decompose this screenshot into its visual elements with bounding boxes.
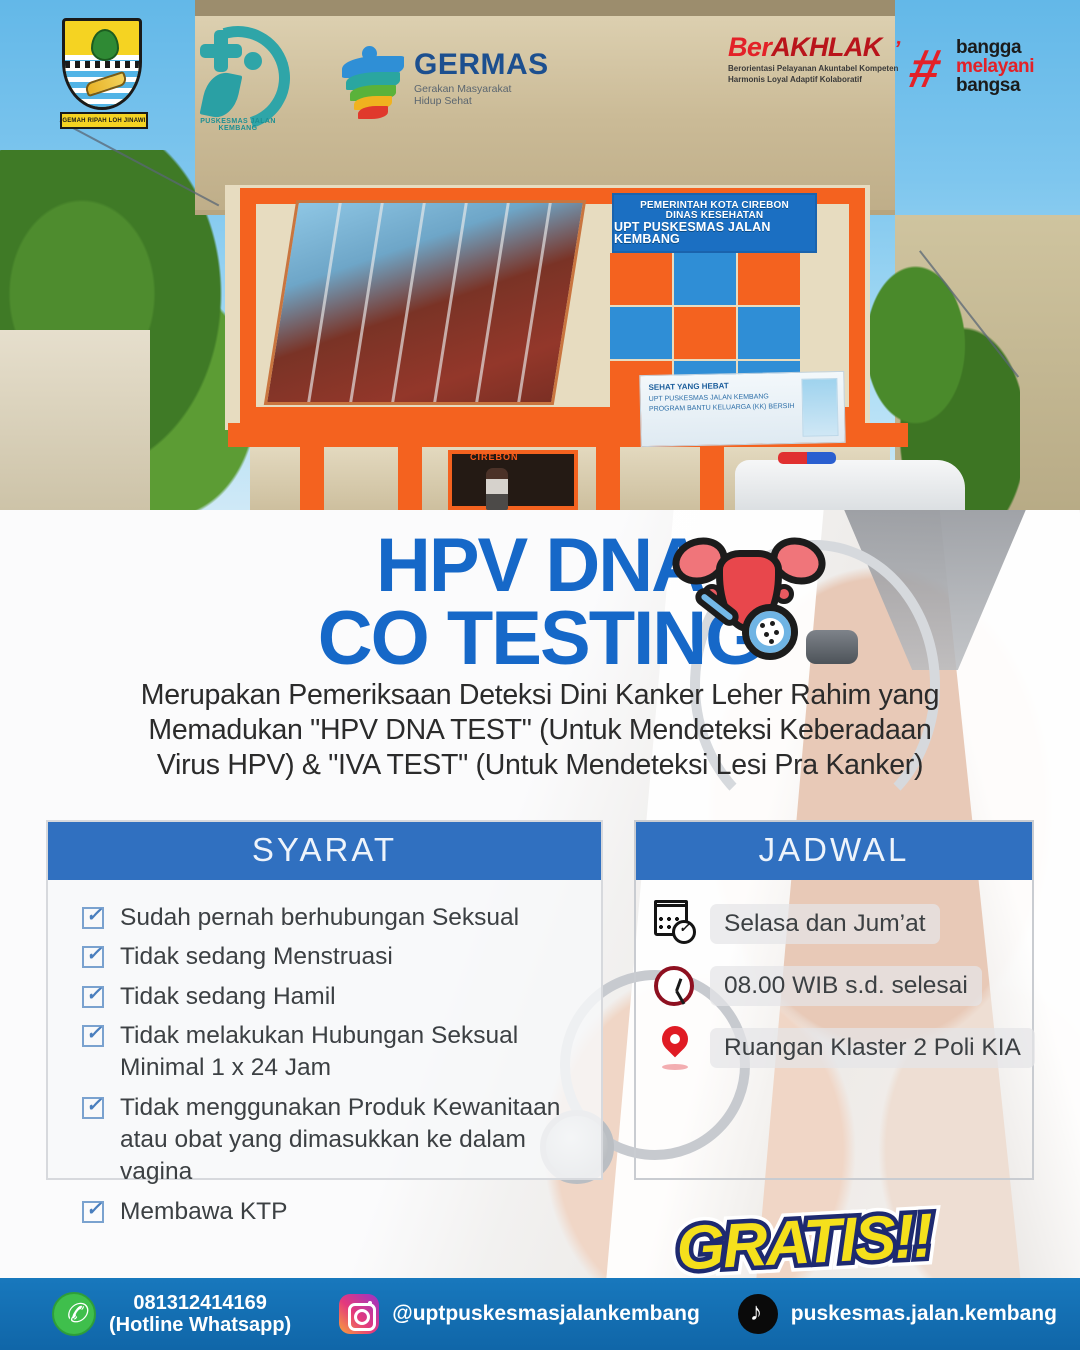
lead-paragraph: Merupakan Pemeriksaan Deteksi Dini Kanke… <box>60 678 1020 782</box>
list-item: Tidak menggunakan Produk Kewanitaan atau… <box>82 1092 601 1189</box>
glass-window <box>264 200 586 405</box>
berakhlak-values-2: Harmonis Loyal Adaptif Kolaboratif <box>728 75 862 84</box>
whatsapp-label: (Hotline Whatsapp) <box>109 1314 291 1336</box>
poster-root: PEMERINTAH KOTA CIREBON DINAS KESEHATAN … <box>0 0 1080 1350</box>
sign-line-3: UPT PUSKESMAS JALAN KEMBANG <box>614 221 815 246</box>
germas-figure-icon <box>338 44 410 122</box>
berakhlak-logo: BerAKHLAK Berorientasi Pelayanan Akuntab… <box>728 30 1028 122</box>
syarat-item-subtext: atau obat yang dimasukkan ke dalam vagin… <box>120 1126 526 1185</box>
list-item: Sudah pernah berhubungan Seksual <box>82 902 601 934</box>
checkbox-icon <box>82 1097 104 1119</box>
syarat-item-text: Tidak melakukan Hubungan Seksual <box>120 1022 518 1049</box>
tiktok-icon <box>738 1294 778 1334</box>
whatsapp-icon <box>52 1292 96 1336</box>
tiktok-handle: puskesmas.jalan.kembang <box>791 1302 1057 1326</box>
banner-line: PROGRAM BANTU KELUARGA (KK) BERSIH <box>649 403 795 413</box>
cirebon-crest-logo: GEMAH RIPAH LOH JINAWI <box>62 18 146 128</box>
logo-row: GEMAH RIPAH LOH JINAWI PUSKESMAS JALAN K… <box>0 0 1080 145</box>
syarat-item-text: Membawa KTP <box>120 1196 287 1228</box>
clock-icon <box>650 962 698 1010</box>
page-title: HPV DNA CO TESTING <box>0 530 1080 676</box>
uterus-speculum-magnifier-icon <box>670 532 830 662</box>
checkbox-icon <box>82 986 104 1008</box>
syarat-item-subtext: Minimal 1 x 24 Jam <box>120 1054 331 1081</box>
banner-title: SEHAT YANG HEBAT <box>648 381 728 392</box>
puskesmas-logo-text: PUSKESMAS JALAN KEMBANG <box>186 118 290 132</box>
syarat-item-text: Sudah pernah berhubungan Seksual <box>120 902 519 934</box>
list-item: Ruangan Klaster 2 Poli KIA <box>650 1024 1032 1072</box>
lead-line-2: Memadukan "HPV DNA TEST" (Untuk Mendetek… <box>60 713 1020 748</box>
title-line-2: CO TESTING <box>0 603 1080 676</box>
syarat-item-text: Tidak menggunakan Produk Kewanitaan <box>120 1094 560 1121</box>
jadwal-list: Selasa dan Jum’at 08.00 WIB s.d. selesai… <box>636 880 1032 1072</box>
berakhlak-prefix: Ber <box>728 32 771 62</box>
ambulance-lightbar <box>778 452 836 464</box>
building-photo: PEMERINTAH KOTA CIREBON DINAS KESEHATAN … <box>0 0 1080 510</box>
germas-sub-1: Gerakan Masyarakat <box>414 83 511 95</box>
germas-title: GERMAS <box>414 50 549 80</box>
bangga-text: bangga <box>956 38 1034 57</box>
main-content: HPV DNA CO TESTING Merupakan Pemeriksaan… <box>0 510 1080 1278</box>
puskesmas-logo: PUSKESMAS JALAN KEMBANG <box>178 22 298 140</box>
location-pin-icon <box>650 1024 698 1072</box>
syarat-list: Sudah pernah berhubungan Seksual Tidak s… <box>48 880 601 1228</box>
door-sign-text: CIREBON <box>470 452 519 462</box>
jadwal-panel: JADWAL Selasa dan Jum’at 08.00 WIB s.d. … <box>634 820 1034 1180</box>
hashtag-icon: # <box>905 48 944 91</box>
sign-line-2: DINAS KESEHATAN <box>666 211 764 221</box>
jadwal-place-text: Ruangan Klaster 2 Poli KIA <box>710 1028 1035 1068</box>
syarat-item-text: Tidak sedang Menstruasi <box>120 941 393 973</box>
instagram-contact[interactable]: @uptpuskesmasjalankembang <box>339 1294 700 1334</box>
title-line-1: HPV DNA <box>0 530 1080 603</box>
list-item: Tidak sedang Hamil <box>82 981 601 1013</box>
checkbox-icon <box>82 946 104 968</box>
lead-line-1: Merupakan Pemeriksaan Deteksi Dini Kanke… <box>60 678 1020 713</box>
jadwal-heading: JADWAL <box>636 822 1032 880</box>
contact-footer: 081312414169 (Hotline Whatsapp) @uptpusk… <box>0 1278 1080 1350</box>
neighbor-wall-left <box>0 330 150 510</box>
crest-motto: GEMAH RIPAH LOH JINAWI <box>62 118 145 124</box>
berakhlak-suffix: AKHLAK <box>771 32 881 62</box>
instagram-handle: @uptpuskesmasjalankembang <box>392 1302 700 1326</box>
germas-sub-2: Hidup Sehat <box>414 95 472 107</box>
list-item: Selasa dan Jum’at <box>650 900 1032 948</box>
building-signboard: PEMERINTAH KOTA CIREBON DINAS KESEHATAN … <box>612 193 817 253</box>
instagram-icon <box>339 1294 379 1334</box>
tiktok-contact[interactable]: puskesmas.jalan.kembang <box>738 1294 1057 1334</box>
facility-banner: SEHAT YANG HEBAT UPT PUSKESMAS JALAN KEM… <box>639 371 845 447</box>
germas-logo: GERMAS Gerakan Masyarakat Hidup Sehat <box>338 44 568 124</box>
ambulance <box>735 460 965 510</box>
jadwal-day-text: Selasa dan Jum’at <box>710 904 940 944</box>
syarat-item-text: Tidak sedang Hamil <box>120 981 336 1013</box>
calendar-icon <box>650 900 698 948</box>
sign-line-1: PEMERINTAH KOTA CIREBON <box>640 201 789 211</box>
whatsapp-contact[interactable]: 081312414169 (Hotline Whatsapp) <box>52 1292 291 1337</box>
person-silhouette <box>486 468 508 510</box>
list-item: Tidak melakukan Hubungan Seksual Minimal… <box>82 1020 601 1085</box>
checkbox-icon <box>82 907 104 929</box>
syarat-panel: SYARAT Sudah pernah berhubungan Seksual … <box>46 820 603 1180</box>
bangsa-text: bangsa <box>956 76 1034 95</box>
checkbox-icon <box>82 1201 104 1223</box>
syarat-heading: SYARAT <box>48 822 601 880</box>
jadwal-time-text: 08.00 WIB s.d. selesai <box>710 966 982 1006</box>
list-item: Membawa KTP <box>82 1196 601 1228</box>
melayani-text: melayani <box>956 57 1034 76</box>
berakhlak-values-1: Berorientasi Pelayanan Akuntabel Kompete… <box>728 64 898 73</box>
lead-line-3: Virus HPV) & "IVA TEST" (Untuk Mendeteks… <box>60 748 1020 783</box>
whatsapp-number: 081312414169 <box>133 1292 266 1314</box>
crest-motto-ribbon: GEMAH RIPAH LOH JINAWI <box>60 112 148 129</box>
banner-sub: UPT PUSKESMAS JALAN KEMBANG <box>649 393 769 403</box>
medical-cross-icon <box>200 30 242 72</box>
checkbox-icon <box>82 1025 104 1047</box>
list-item: 08.00 WIB s.d. selesai <box>650 962 1032 1010</box>
list-item: Tidak sedang Menstruasi <box>82 941 601 973</box>
